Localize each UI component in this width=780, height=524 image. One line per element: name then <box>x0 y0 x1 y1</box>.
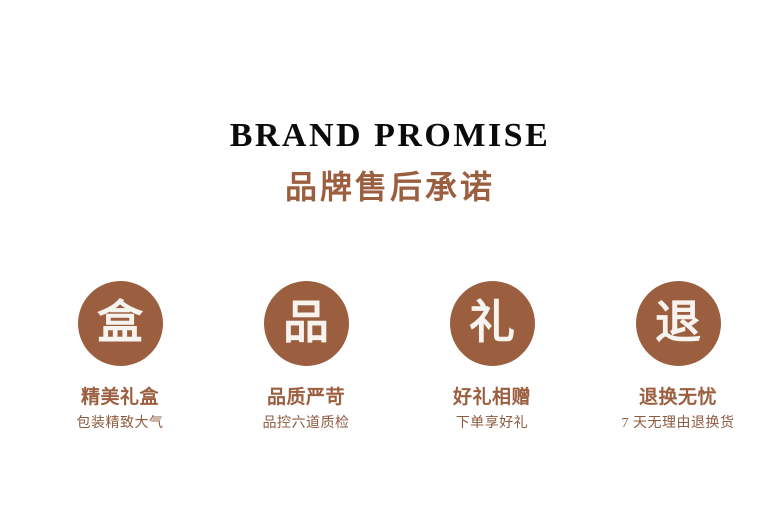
badge-circle-return: 退 <box>636 281 721 366</box>
page-title-cn: 品牌售后承诺 <box>0 171 780 205</box>
feature-title: 好礼相赠 <box>453 388 531 409</box>
feature-subtitle: 下单享好礼 <box>456 416 529 431</box>
badge-circle-gift: 礼 <box>450 281 535 366</box>
feature-list: 盒 精美礼盒 包装精致大气 品 品质严苛 品控六道质检 礼 好礼相赠 下单享好礼… <box>0 281 780 431</box>
feature-subtitle: 品控六道质检 <box>263 416 350 431</box>
feature-subtitle: 包装精致大气 <box>77 416 164 431</box>
feature-title: 退换无忧 <box>639 388 717 409</box>
page-title-en: BRAND PROMISE <box>0 118 780 154</box>
feature-item-gift-box: 盒 精美礼盒 包装精致大气 <box>27 281 213 431</box>
feature-item-quality: 品 品质严苛 品控六道质检 <box>213 281 399 431</box>
brand-promise-banner: BRAND PROMISE 品牌售后承诺 盒 精美礼盒 包装精致大气 品 品质严… <box>0 0 780 524</box>
badge-character-icon: 盒 <box>97 300 143 346</box>
feature-title: 精美礼盒 <box>81 388 159 409</box>
badge-circle-gift-box: 盒 <box>78 281 163 366</box>
badge-character-icon: 礼 <box>469 300 515 346</box>
heading-block: BRAND PROMISE 品牌售后承诺 <box>0 118 780 204</box>
feature-item-gift: 礼 好礼相赠 下单享好礼 <box>399 281 585 431</box>
feature-title: 品质严苛 <box>267 388 345 409</box>
feature-item-return: 退 退换无忧 7 天无理由退换货 <box>585 281 771 431</box>
badge-character-icon: 品 <box>283 300 329 346</box>
feature-subtitle: 7 天无理由退换货 <box>622 416 735 431</box>
badge-character-icon: 退 <box>655 300 701 346</box>
badge-circle-quality: 品 <box>264 281 349 366</box>
